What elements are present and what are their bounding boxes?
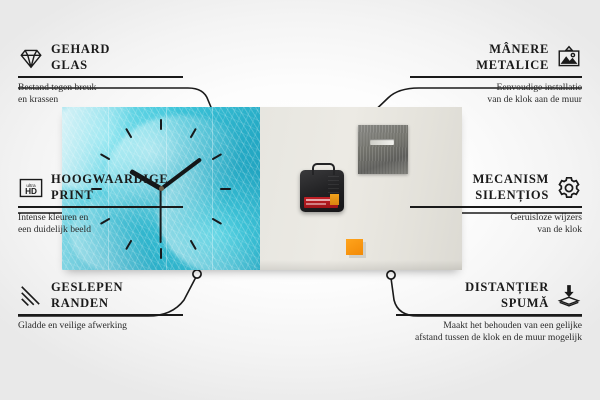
clock-tick (125, 127, 132, 138)
clock-tick (212, 217, 223, 224)
movement-hook (312, 163, 335, 175)
feature-desc-line1: Bestand tegen breuk (18, 82, 183, 95)
feature-distantier-spuma: DISTANȚIER SPUMĂ Maakt het behouden van … (396, 280, 582, 345)
feature-title-line2: RANDEN (51, 296, 123, 312)
feature-geslepen-randen: GESLEPEN RANDEN Gladde en veilige afwerk… (18, 280, 183, 332)
feature-title-line1: GESLEPEN (51, 280, 123, 296)
feature-desc-line2: van de klok aan de muur (410, 94, 582, 107)
feature-desc-line1: Geruisloze wijzers (410, 212, 582, 225)
feature-desc-line2: afstand tussen de klok en de muur mogeli… (396, 332, 582, 345)
feature-title-line2: PRINT (51, 188, 168, 204)
clock-tick (190, 239, 197, 250)
feature-manere-metalice: MÂNERE METALICE Eenvoudige installatie v… (410, 42, 582, 107)
gear-icon (556, 175, 582, 201)
feature-title-line2: SILENȚIOS (473, 188, 549, 204)
feature-title-line2: SPUMĂ (465, 296, 549, 312)
press-down-pad-icon (556, 283, 582, 309)
clock-tick (160, 248, 162, 259)
feature-title-line1: HOOGWAARDIGE (51, 172, 168, 188)
feature-rule (410, 76, 582, 78)
battery (304, 197, 338, 208)
feature-title-line1: DISTANȚIER (465, 280, 549, 296)
feature-title-line1: MECANISM (473, 172, 549, 188)
feature-desc-line2: en krassen (18, 94, 183, 107)
feature-desc-line2: een duidelijk beeld (18, 224, 183, 237)
diamond-icon (18, 45, 44, 71)
feature-title-line1: GEHARD (51, 42, 110, 58)
foam-spacer (346, 239, 363, 255)
feature-rule (18, 76, 183, 78)
wall-shadow (260, 260, 462, 270)
clock-tick (125, 239, 132, 250)
feature-rule (18, 314, 183, 316)
svg-text:HD: HD (25, 187, 37, 196)
battery-label-stripe (306, 199, 332, 201)
clock-tick (190, 127, 197, 138)
clock-movement (300, 170, 344, 212)
metal-hanger-plate (358, 125, 408, 174)
infographic-stage: GEHARD GLAS Bestand tegen breuk en krass… (0, 0, 600, 400)
framed-picture-icon (556, 45, 582, 71)
feature-hoogwaardige-print: ultra HD HOOGWAARDIGE PRINT Intense kleu… (18, 172, 183, 237)
feature-title-line2: METALICE (476, 58, 549, 74)
bevelled-edges-icon (18, 283, 44, 309)
feature-desc-line1: Gladde en veilige afwerking (18, 320, 183, 333)
clock-tick (160, 119, 162, 130)
leader-dot-distantier-spuma (387, 271, 395, 279)
movement-vents (328, 176, 339, 193)
feature-gehard-glas: GEHARD GLAS Bestand tegen breuk en krass… (18, 42, 183, 107)
ultra-hd-icon: ultra HD (18, 175, 44, 201)
feature-desc-line1: Intense kleuren en (18, 212, 183, 225)
battery-label-stripe (306, 203, 326, 205)
battery-positive-terminal (330, 194, 339, 205)
feature-mecanism-silentios: MECANISM SILENȚIOS Geruisloze wijzers va… (410, 172, 582, 237)
feature-rule (396, 314, 582, 316)
feature-rule (410, 206, 582, 208)
clock-tick (220, 188, 231, 190)
clock-tick (212, 153, 223, 160)
hanger-slot (370, 139, 394, 145)
feature-desc-line2: van de klok (410, 224, 582, 237)
feature-desc-line1: Maakt het behouden van een gelijke (396, 320, 582, 333)
feature-desc-line1: Eenvoudige installatie (410, 82, 582, 95)
clock-tick (100, 153, 111, 160)
leader-dot-geslepen-randen (193, 270, 201, 278)
feature-title-line1: MÂNERE (476, 42, 549, 58)
feature-title-line2: GLAS (51, 58, 110, 74)
feature-rule (18, 206, 183, 208)
